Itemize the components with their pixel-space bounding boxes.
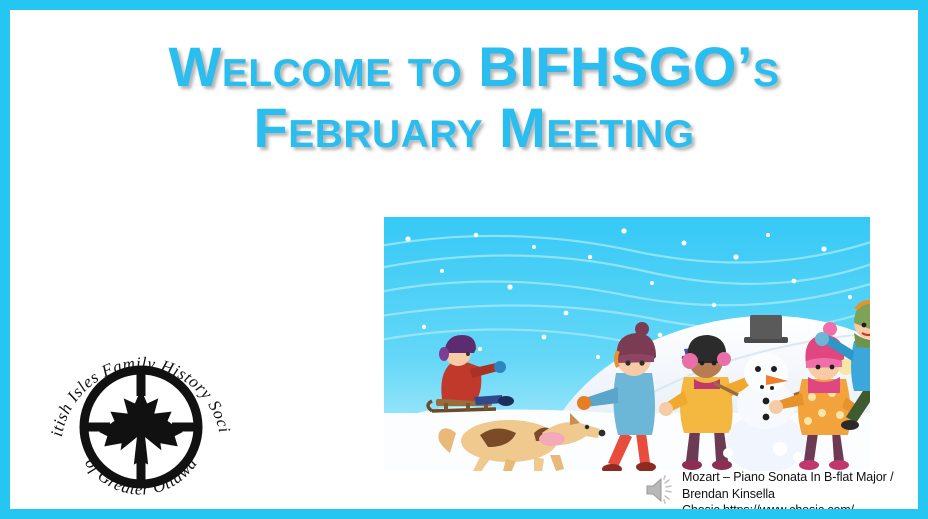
presentation-slide: Welcome to BIFHSGO’s February Meeting Br… (0, 0, 928, 519)
audio-credit: Mozart – Piano Sonata In B-flat Major / … (644, 469, 928, 519)
audio-credit-line-1: Mozart – Piano Sonata In B-flat Major / (682, 469, 893, 486)
bifhsgo-logo-graphic: British Isles Family History Society of … (46, 332, 236, 514)
title-line-1: Welcome to BIFHSGO’s (10, 38, 928, 95)
page-title: Welcome to BIFHSGO’s February Meeting (10, 38, 928, 156)
speaker-icon (644, 475, 676, 505)
bifhsgo-logo: British Isles Family History Society of … (46, 332, 236, 514)
title-line-2: February Meeting (10, 99, 928, 156)
audio-source-url[interactable]: https://www.chosic.com/ (723, 503, 854, 517)
audio-credit-line-2: Brendan Kinsella (682, 486, 893, 503)
winter-scene-graphic (384, 217, 870, 471)
audio-credit-text: Mozart – Piano Sonata In B-flat Major / … (682, 469, 893, 519)
winter-scene-image (384, 217, 870, 471)
audio-credit-source: Chosic https://www.chosic.com/ (682, 502, 893, 519)
audio-source-name: Chosic (682, 503, 720, 517)
